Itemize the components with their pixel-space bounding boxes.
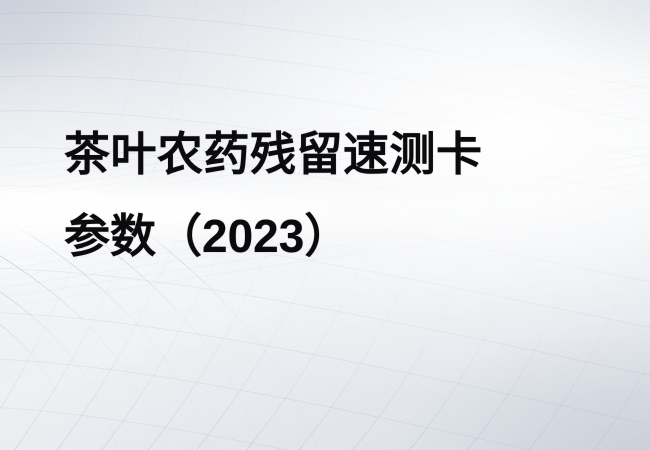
- page-title: 茶叶农药残留速测卡 参数（2023）: [64, 131, 584, 259]
- title-banner: 茶叶农药残留速测卡 参数（2023）: [0, 0, 650, 450]
- title-line-secondary: 参数（2023）: [64, 213, 584, 259]
- title-line-primary: 茶叶农药残留速测卡: [64, 131, 584, 177]
